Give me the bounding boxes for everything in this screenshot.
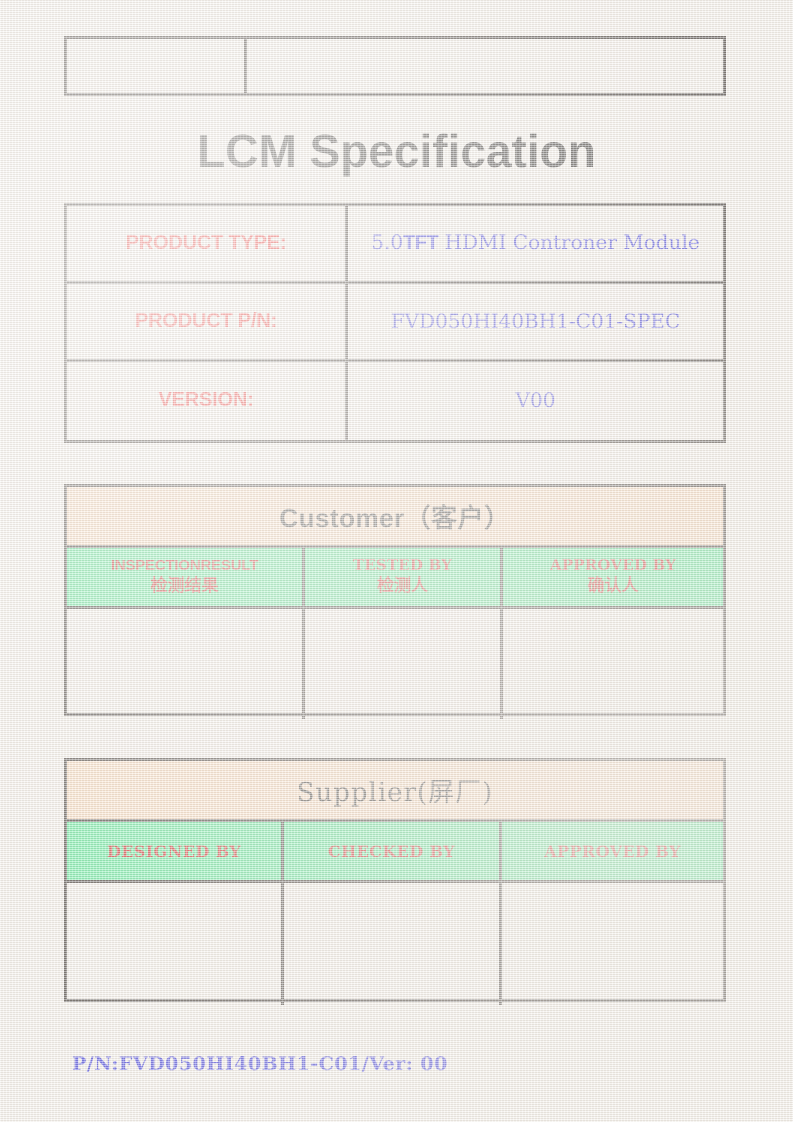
customer-header-approved-by-cn: 确认人 <box>588 576 639 596</box>
footer-part-number: P/N:FVD050HI40BH1-C01/Ver: 00 <box>72 1053 448 1075</box>
table-row: VERSION: V00 <box>67 362 723 440</box>
table-row <box>67 39 723 93</box>
customer-header-tested-by: TESTED BY 检测人 <box>305 548 503 606</box>
supplier-header-designed-by: DESIGNED BY <box>67 822 284 880</box>
product-pn-label: PRODUCT P/N: <box>67 284 348 359</box>
version-label: VERSION: <box>67 362 348 440</box>
header-table-right-cell[interactable] <box>247 39 723 93</box>
customer-header-inspection-result: INSPECTIONRESULT 检测结果 <box>67 548 305 606</box>
customer-table-title-row: Customer（客户） <box>67 487 723 548</box>
product-type-value[interactable]: 5.0TFT HDMI Controner Module <box>348 206 723 281</box>
customer-table-signature-row <box>67 609 723 719</box>
product-type-rest: HDMI Controner Module <box>438 230 700 254</box>
product-pn-value[interactable]: FVD050HI40BH1-C01-SPEC <box>348 284 723 359</box>
supplier-approved-by-field[interactable] <box>502 883 723 1005</box>
customer-header-approved-by-en: APPROVED BY <box>550 557 676 574</box>
customer-header-tested-by-cn: 检测人 <box>377 576 428 596</box>
customer-tested-by-field[interactable] <box>305 609 503 719</box>
product-info-table: PRODUCT TYPE: 5.0TFT HDMI Controner Modu… <box>64 203 726 443</box>
supplier-signature-table: Supplier(屏厂) DESIGNED BY CHECKED BY APPR… <box>64 758 726 1002</box>
supplier-table-title-row: Supplier(屏厂) <box>67 761 723 822</box>
customer-header-approved-by: APPROVED BY 确认人 <box>503 548 723 606</box>
product-type-size: 5.0 <box>371 230 403 254</box>
table-row: PRODUCT P/N: FVD050HI40BH1-C01-SPEC <box>67 284 723 362</box>
customer-header-inspection-result-cn: 检测结果 <box>151 576 219 596</box>
customer-header-inspection-result-en: INSPECTIONRESULT <box>111 557 258 574</box>
customer-table-header-row: INSPECTIONRESULT 检测结果 TESTED BY 检测人 APPR… <box>67 548 723 609</box>
table-row: PRODUCT TYPE: 5.0TFT HDMI Controner Modu… <box>67 206 723 284</box>
product-type-label: PRODUCT TYPE: <box>67 206 348 281</box>
document-page: LCM Specification PRODUCT TYPE: 5.0TFT H… <box>0 0 793 1122</box>
header-table-left-cell[interactable] <box>67 39 247 93</box>
supplier-header-approved-by: APPROVED BY <box>502 822 723 880</box>
customer-approved-by-field[interactable] <box>503 609 723 719</box>
supplier-table-signature-row <box>67 883 723 1005</box>
supplier-table-header-row: DESIGNED BY CHECKED BY APPROVED BY <box>67 822 723 883</box>
version-value[interactable]: V00 <box>348 362 723 440</box>
customer-table-title: Customer（客户） <box>279 498 510 535</box>
page-title: LCM Specification <box>0 124 793 178</box>
customer-signature-table: Customer（客户） INSPECTIONRESULT 检测结果 TESTE… <box>64 484 726 716</box>
supplier-header-checked-by: CHECKED BY <box>284 822 502 880</box>
supplier-checked-by-field[interactable] <box>284 883 502 1005</box>
product-type-tech: TFT <box>403 232 438 254</box>
customer-inspection-result-field[interactable] <box>67 609 305 719</box>
supplier-table-title: Supplier(屏厂) <box>297 772 494 809</box>
header-info-table <box>64 36 726 96</box>
supplier-designed-by-field[interactable] <box>67 883 284 1005</box>
customer-header-tested-by-en: TESTED BY <box>353 557 452 574</box>
